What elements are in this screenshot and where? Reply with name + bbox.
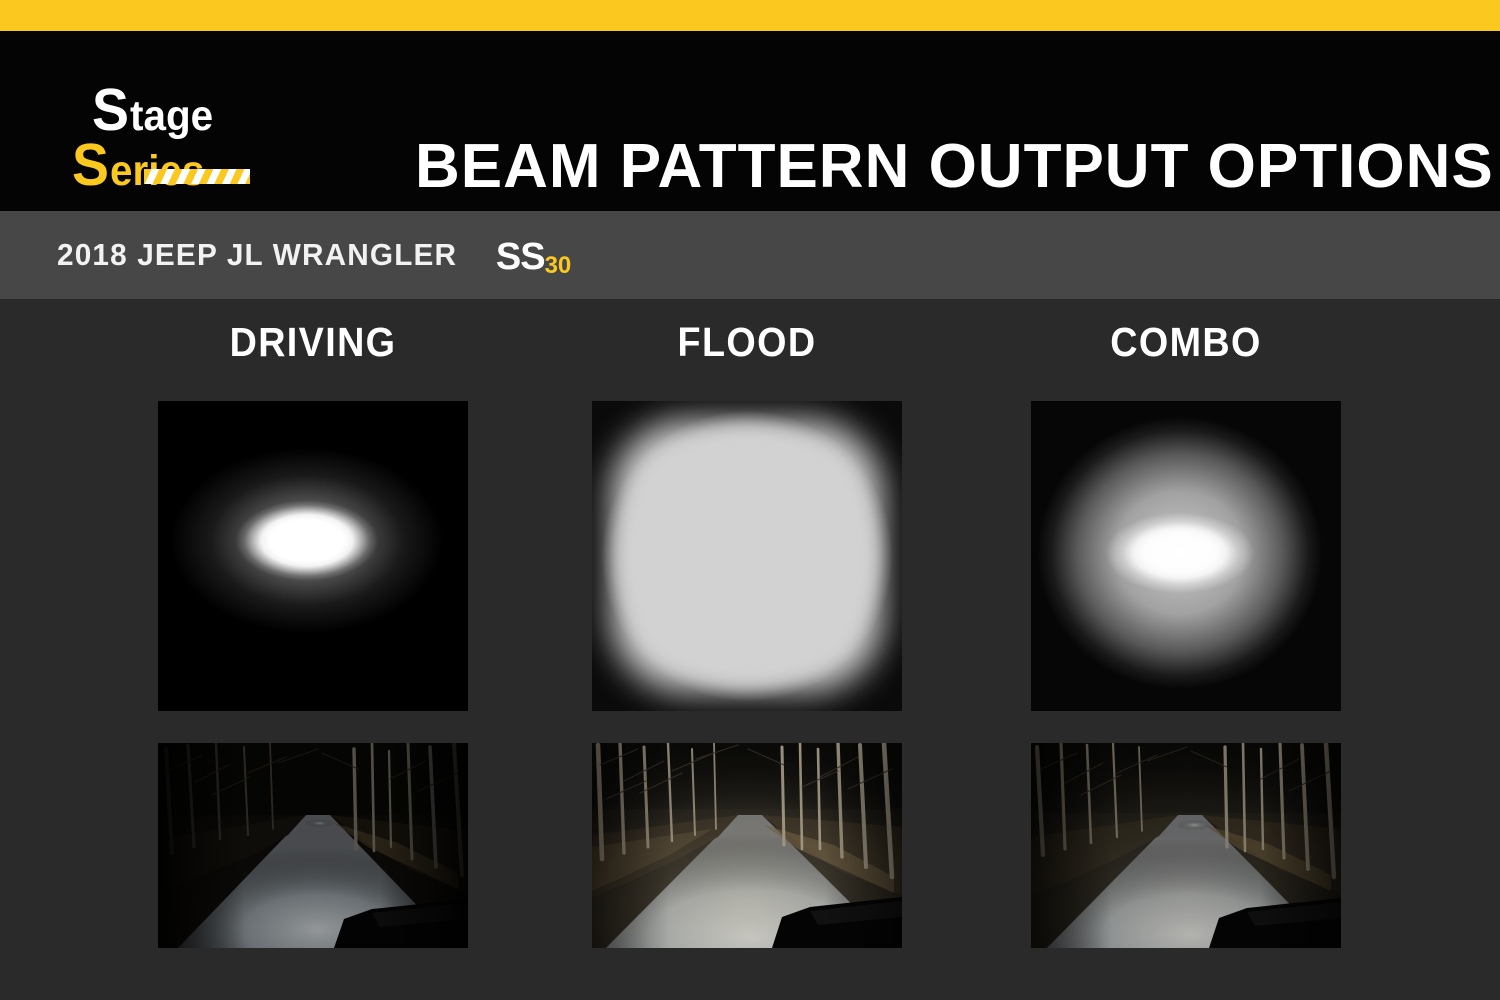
vehicle-label: 2018 JEEP JL WRANGLER	[57, 237, 457, 273]
night-road-scene-flood	[592, 743, 902, 948]
night-photo-driving	[158, 743, 468, 948]
top-accent-stripe	[0, 0, 1500, 31]
night-road-scene-combo	[1031, 743, 1341, 948]
beam-comparison-grid: DRIVING	[0, 299, 1500, 1000]
header-bar: Stage Series BEAM PATTERN OUTPUT OPTIONS	[0, 31, 1500, 211]
subtitle-bar: 2018 JEEP JL WRANGLER SS30	[0, 211, 1500, 299]
column-label-combo: COMBO	[1043, 319, 1328, 366]
beam-glow-driving	[158, 401, 468, 711]
logo-line-series: Series	[72, 136, 211, 195]
night-photo-combo	[1031, 743, 1341, 948]
logo-speed-stripes-icon	[144, 169, 250, 184]
logo-stage-rest: tage	[130, 95, 213, 138]
logo-line-stage: Stage	[92, 81, 219, 140]
sku-badge: SS30	[496, 236, 571, 279]
beam-pattern-driving	[158, 401, 468, 711]
beam-pattern-combo	[1031, 401, 1341, 711]
night-road-scene-driving	[158, 743, 468, 948]
column-label-driving: DRIVING	[170, 319, 455, 366]
night-photo-flood	[592, 743, 902, 948]
beam-pattern-flood	[592, 401, 902, 711]
poster-root: Stage Series BEAM PATTERN OUTPUT OPTIONS…	[0, 0, 1500, 1000]
sku-number: 30	[545, 252, 572, 279]
beam-glow-combo	[1031, 401, 1341, 711]
page-title: BEAM PATTERN OUTPUT OPTIONS	[415, 129, 1494, 205]
logo-series-capital: S	[72, 136, 108, 195]
column-label-flood: FLOOD	[604, 319, 889, 366]
sku-prefix: SS	[496, 236, 545, 278]
stage-series-logo: Stage Series	[72, 78, 342, 208]
beam-glow-flood	[592, 401, 902, 711]
